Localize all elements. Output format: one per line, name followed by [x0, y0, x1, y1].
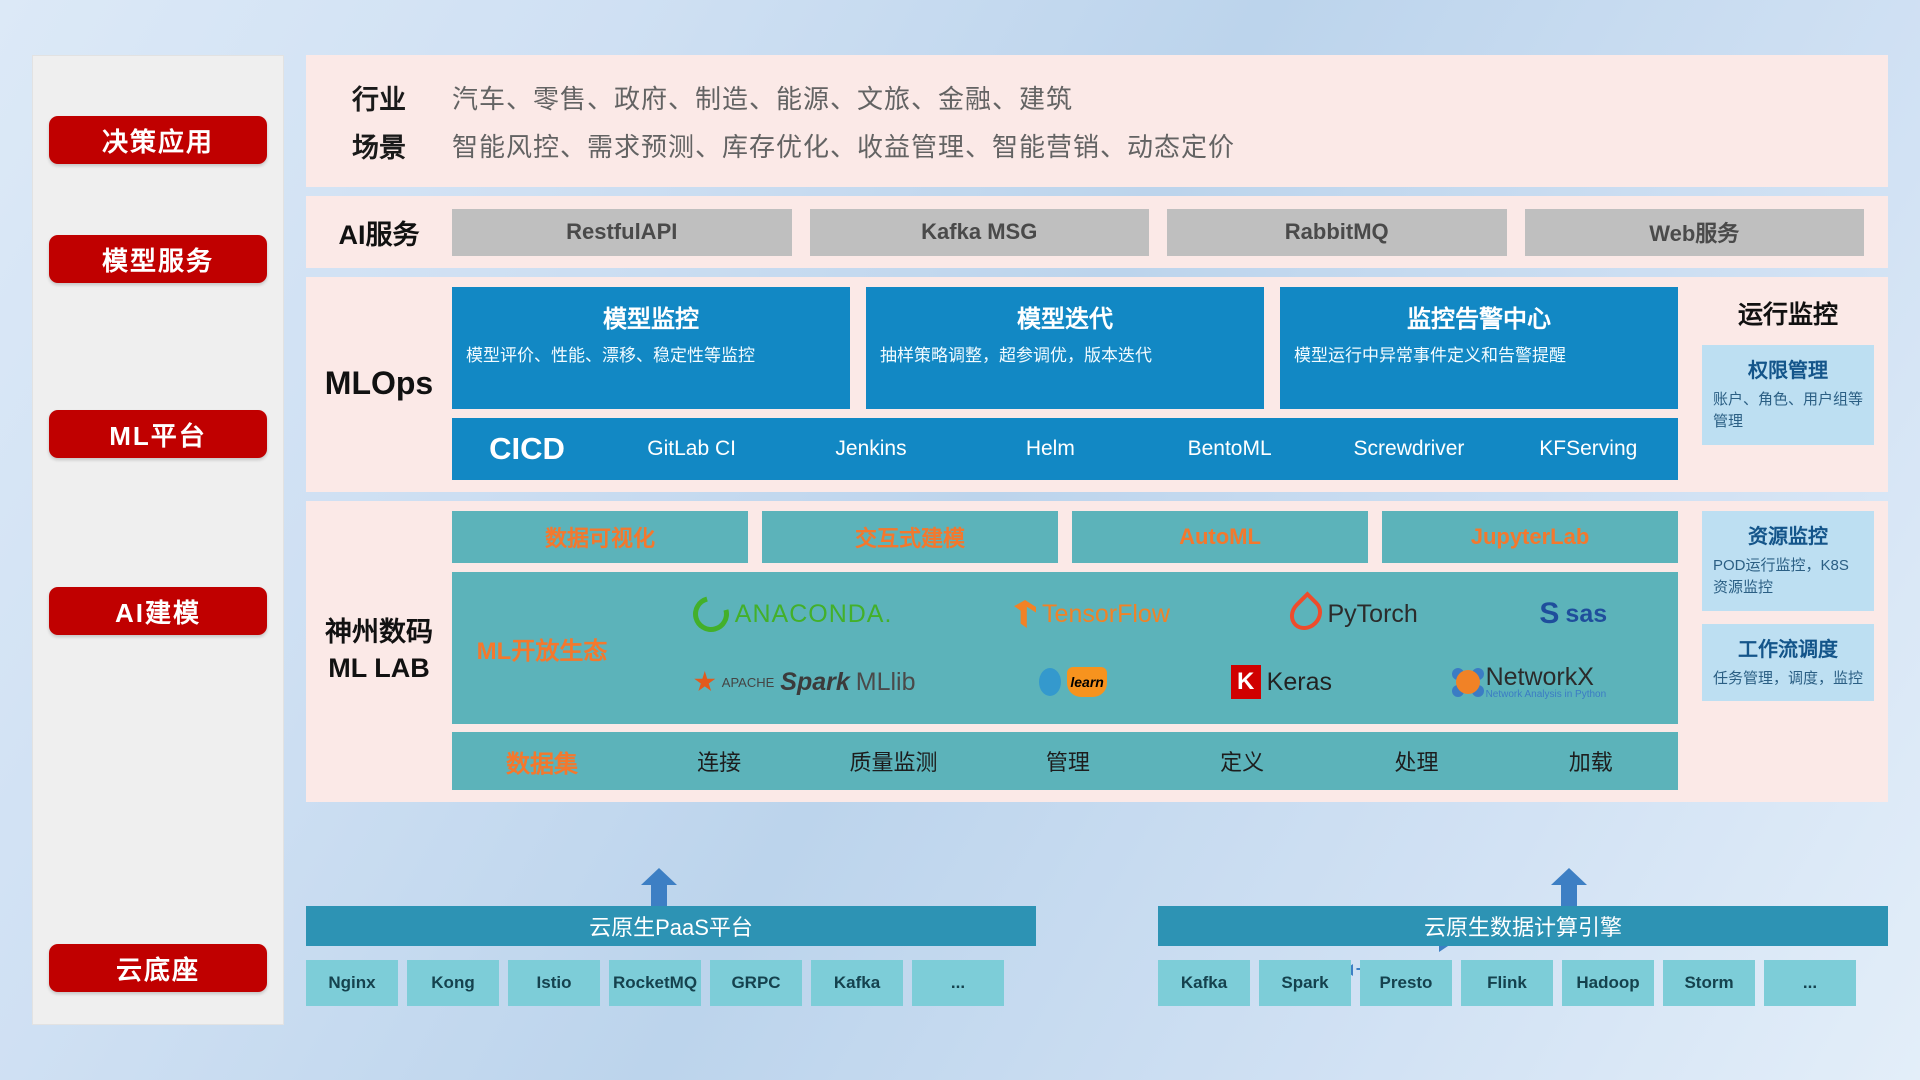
card-desc: 模型运行中异常事件定义和告警提醒	[1294, 344, 1664, 369]
pytorch-label: PyTorch	[1327, 600, 1417, 629]
cicd-item-kfserving[interactable]: KFServing	[1499, 437, 1678, 461]
dataset-row: 数据集 连接 质量监测 管理 定义 处理 加载	[452, 732, 1678, 790]
tile-storm[interactable]: Storm	[1663, 960, 1755, 1006]
ai-service-kafka-msg[interactable]: Kafka MSG	[810, 209, 1150, 256]
mlops-card-group: 模型监控 模型评价、性能、漂移、稳定性等监控 模型迭代 抽样策略调整，超参调优，…	[452, 287, 1678, 409]
sas-swirl-icon: S	[1539, 597, 1559, 631]
monitor-column-bottom: 资源监控 POD运行监控，K8S资源监控 工作流调度 任务管理，调度，监控	[1692, 501, 1888, 802]
ml-ecosystem-title: ML开放生态	[452, 631, 632, 666]
dataset-item-quality-monitoring[interactable]: 质量监测	[806, 745, 980, 777]
mllab-content: 数据可视化 交互式建模 AutoML JupyterLab ML开放生态 ANA…	[452, 511, 1692, 790]
tile-nginx[interactable]: Nginx	[306, 960, 398, 1006]
up-arrow-right-icon	[1551, 868, 1587, 910]
cicd-item-screwdriver[interactable]: Screwdriver	[1319, 437, 1498, 461]
tier-label: ML平台	[109, 416, 207, 453]
networkx-logo: NetworkX Network Analysis in Python	[1456, 665, 1607, 700]
monitor-card-workflow[interactable]: 工作流调度 任务管理，调度，监控	[1702, 624, 1874, 702]
mlops-card-model-monitoring[interactable]: 模型监控 模型评价、性能、漂移、稳定性等监控	[452, 287, 850, 409]
monitor-card-resource[interactable]: 资源监控 POD运行监控，K8S资源监控	[1702, 511, 1874, 611]
card-desc: 账户、角色、用户组等管理	[1713, 389, 1863, 433]
tile-istio[interactable]: Istio	[508, 960, 600, 1006]
industry-value: 汽车、零售、政府、制造、能源、文旅、金融、建筑	[452, 79, 1073, 116]
ai-service-label: AI服务	[306, 213, 452, 252]
mllab-label-line1: 神州数码	[306, 615, 452, 650]
scenario-row: 场景 智能风控、需求预测、库存优化、收益管理、智能营销、动态定价	[306, 121, 1888, 169]
dataset-item-manage[interactable]: 管理	[981, 745, 1155, 777]
tensorflow-mark-icon	[1014, 600, 1036, 628]
networkx-graph-icon	[1456, 670, 1480, 694]
tensorflow-label: TensorFlow	[1042, 600, 1170, 629]
networkx-subtitle: Network Analysis in Python	[1486, 690, 1607, 700]
main-stack: 行业 汽车、零售、政府、制造、能源、文旅、金融、建筑 场景 智能风控、需求预测、…	[306, 55, 1888, 811]
tile-hadoop[interactable]: Hadoop	[1562, 960, 1654, 1006]
tier-label: AI建模	[115, 593, 201, 630]
card-title: 资源监控	[1713, 520, 1863, 549]
tier-badge-decision-app[interactable]: 决策应用	[49, 116, 267, 164]
card-title: 工作流调度	[1713, 633, 1863, 662]
spark-apache-label: APACHE	[722, 675, 775, 690]
dataset-item-process[interactable]: 处理	[1329, 745, 1503, 777]
industry-key: 行业	[306, 78, 452, 117]
scikit-learn-mark-icon: learn	[1067, 667, 1107, 697]
tab-jupyterlab[interactable]: JupyterLab	[1382, 511, 1678, 563]
tile-grpc[interactable]: GRPC	[710, 960, 802, 1006]
architecture-diagram: 决策应用 模型服务 ML平台 AI建模 云底座 行业 汽车、零售、政府、制造、能…	[0, 0, 1920, 1080]
ai-service-web[interactable]: Web服务	[1525, 209, 1865, 256]
tile-kafka-right[interactable]: Kafka	[1158, 960, 1250, 1006]
ai-service-rabbitmq[interactable]: RabbitMQ	[1167, 209, 1507, 256]
keras-k-icon: K	[1231, 665, 1261, 699]
monitor-column-top: 运行监控 权限管理 账户、角色、用户组等管理	[1692, 277, 1888, 492]
ai-service-band: AI服务 RestfulAPI Kafka MSG RabbitMQ Web服务	[306, 196, 1888, 268]
dataset-item-load[interactable]: 加载	[1504, 745, 1678, 777]
mllab-tab-group: 数据可视化 交互式建模 AutoML JupyterLab	[452, 511, 1678, 563]
mlops-card-model-iteration[interactable]: 模型迭代 抽样策略调整，超参调优，版本迭代	[866, 287, 1264, 409]
scikit-blob-icon	[1039, 668, 1061, 696]
tab-data-visualization[interactable]: 数据可视化	[452, 511, 748, 563]
tier-label: 模型服务	[102, 241, 214, 278]
cloud-foundation-row: 云原生PaaS平台 Nginx Kong Istio RocketMQ GRPC…	[306, 884, 1888, 1034]
tile-flink[interactable]: Flink	[1461, 960, 1553, 1006]
tile-more-right[interactable]: ...	[1764, 960, 1856, 1006]
tier-badge-ai-modeling[interactable]: AI建模	[49, 587, 267, 635]
ml-logo-row-1: ANACONDA. TensorFlow PyTorch	[632, 582, 1668, 646]
cicd-item-helm[interactable]: Helm	[961, 437, 1140, 461]
scikit-learn-logo: learn	[1039, 667, 1107, 697]
cicd-item-gitlab-ci[interactable]: GitLab CI	[602, 437, 781, 461]
tier-label: 决策应用	[102, 122, 214, 159]
anaconda-ring-icon	[686, 589, 735, 638]
monitor-card-permission[interactable]: 权限管理 账户、角色、用户组等管理	[1702, 345, 1874, 445]
sas-logo: S sas	[1539, 597, 1607, 631]
ml-logo-grid: ANACONDA. TensorFlow PyTorch	[632, 582, 1678, 714]
cicd-row: CICD GitLab CI Jenkins Helm BentoML Scre…	[452, 418, 1678, 480]
ml-logo-row-2: APACHE Spark MLlib learn	[632, 650, 1668, 714]
card-desc: 任务管理，调度，监控	[1713, 668, 1863, 690]
scenario-key: 场景	[306, 126, 452, 165]
ml-ecosystem-panel: ML开放生态 ANACONDA. TensorFlow	[452, 572, 1678, 724]
industry-row: 行业 汽车、零售、政府、制造、能源、文旅、金融、建筑	[306, 73, 1888, 121]
keras-logo: K Keras	[1231, 665, 1332, 699]
mlops-label: MLOps	[306, 365, 452, 402]
cicd-label: CICD	[452, 431, 602, 467]
sas-label: sas	[1565, 600, 1607, 629]
tier-badge-cloud-base[interactable]: 云底座	[49, 944, 267, 992]
card-title: 模型监控	[466, 299, 836, 334]
mlops-band: MLOps 模型监控 模型评价、性能、漂移、稳定性等监控 模型迭代 抽样策略调整…	[306, 277, 1888, 492]
mlops-card-alert-center[interactable]: 监控告警中心 模型运行中异常事件定义和告警提醒	[1280, 287, 1678, 409]
tier-rail: 决策应用 模型服务 ML平台 AI建模 云底座	[32, 55, 284, 1025]
mlops-content: 模型监控 模型评价、性能、漂移、稳定性等监控 模型迭代 抽样策略调整，超参调优，…	[452, 287, 1692, 480]
tile-presto[interactable]: Presto	[1360, 960, 1452, 1006]
mllab-left: 神州数码 ML LAB 数据可视化 交互式建模 AutoML JupyterLa…	[306, 501, 1692, 802]
up-arrow-left-icon	[641, 868, 677, 910]
scikit-small-label: learn	[1070, 674, 1103, 690]
tile-kong[interactable]: Kong	[407, 960, 499, 1006]
tile-kafka[interactable]: Kafka	[811, 960, 903, 1006]
card-desc: 抽样策略调整，超参调优，版本迭代	[880, 344, 1250, 369]
card-title: 模型迭代	[880, 299, 1250, 334]
mllib-label: MLlib	[856, 668, 916, 697]
tile-more-left[interactable]: ...	[912, 960, 1004, 1006]
mlops-left: MLOps 模型监控 模型评价、性能、漂移、稳定性等监控 模型迭代 抽样策略调整…	[306, 277, 1692, 492]
pytorch-flame-icon	[1284, 591, 1329, 636]
card-title: 监控告警中心	[1294, 299, 1664, 334]
tier-label: 云底座	[116, 950, 200, 987]
industry-scenario-band: 行业 汽车、零售、政府、制造、能源、文旅、金融、建筑 场景 智能风控、需求预测、…	[306, 55, 1888, 187]
tab-interactive-modeling[interactable]: 交互式建模	[762, 511, 1058, 563]
dataset-title: 数据集	[452, 744, 632, 779]
tier-badge-ml-platform[interactable]: ML平台	[49, 410, 267, 458]
mllab-label: 神州数码 ML LAB	[306, 615, 452, 685]
dataset-item-define[interactable]: 定义	[1155, 745, 1329, 777]
tensorflow-logo: TensorFlow	[1014, 600, 1170, 629]
card-desc: 模型评价、性能、漂移、稳定性等监控	[466, 344, 836, 369]
ai-service-restfulapi[interactable]: RestfulAPI	[452, 209, 792, 256]
tile-rocketmq[interactable]: RocketMQ	[609, 960, 701, 1006]
scenario-value: 智能风控、需求预测、库存优化、收益管理、智能营销、动态定价	[452, 127, 1235, 164]
cloud-compute-tiles: Kafka Spark Presto Flink Hadoop Storm ..…	[1158, 960, 1888, 1006]
tab-automl[interactable]: AutoML	[1072, 511, 1368, 563]
ai-service-pill-group: RestfulAPI Kafka MSG RabbitMQ Web服务	[452, 209, 1888, 256]
anaconda-label: ANACONDA.	[735, 600, 893, 629]
keras-label: Keras	[1267, 668, 1332, 697]
cloud-compute-bar[interactable]: 云原生数据计算引擎	[1158, 906, 1888, 946]
monitor-column-title: 运行监控	[1702, 295, 1874, 331]
tier-badge-model-service[interactable]: 模型服务	[49, 235, 267, 283]
cicd-item-bentoml[interactable]: BentoML	[1140, 437, 1319, 461]
cloud-paas-bar[interactable]: 云原生PaaS平台	[306, 906, 1036, 946]
tile-spark[interactable]: Spark	[1259, 960, 1351, 1006]
pytorch-logo: PyTorch	[1291, 597, 1417, 631]
card-title: 权限管理	[1713, 354, 1863, 383]
spark-label: Spark	[780, 668, 849, 697]
spark-mllib-logo: APACHE Spark MLlib	[694, 668, 916, 697]
spark-star-icon	[694, 671, 716, 693]
mllab-band: 神州数码 ML LAB 数据可视化 交互式建模 AutoML JupyterLa…	[306, 501, 1888, 802]
cicd-item-jenkins[interactable]: Jenkins	[781, 437, 960, 461]
networkx-label: NetworkX	[1486, 665, 1607, 690]
card-desc: POD运行监控，K8S资源监控	[1713, 555, 1863, 599]
dataset-item-connect[interactable]: 连接	[632, 745, 806, 777]
cloud-paas-tiles: Nginx Kong Istio RocketMQ GRPC Kafka ...	[306, 960, 1036, 1006]
anaconda-logo: ANACONDA.	[693, 596, 893, 632]
mllab-label-line2: ML LAB	[306, 651, 452, 686]
